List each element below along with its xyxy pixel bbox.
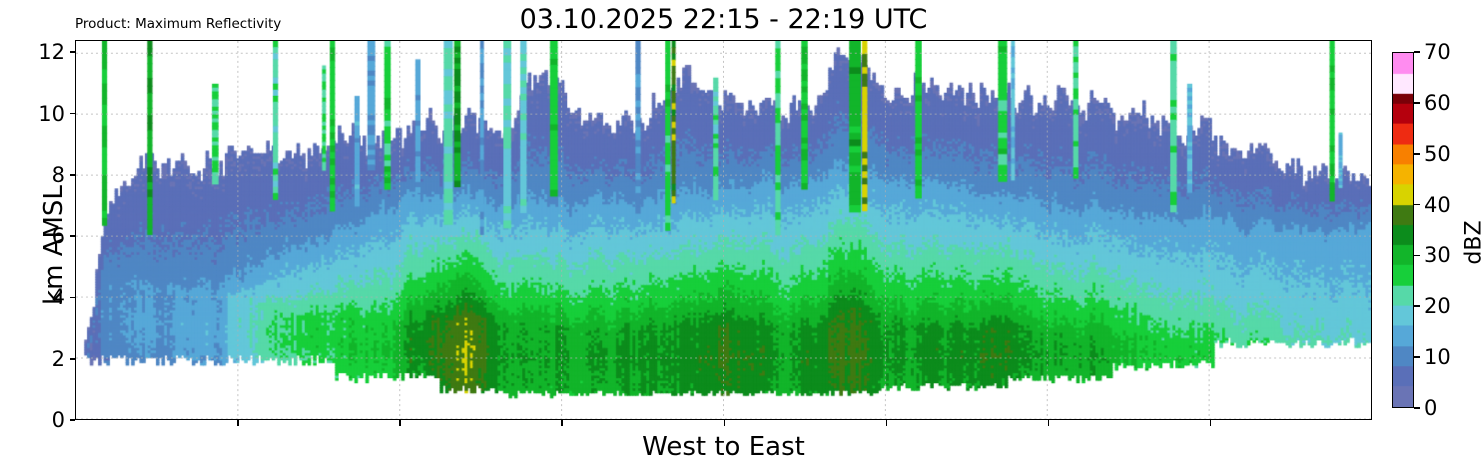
y-tick-label: 8 [52,163,65,187]
x-tick-mark [399,420,401,426]
x-tick-mark [561,420,563,426]
x-tick-mark [1048,420,1050,426]
x-tick-mark [1210,420,1212,426]
colorbar-tick-label: 30 [1424,243,1451,267]
colorbar-tick-mark [1414,356,1420,358]
colorbar-tick-mark [1414,305,1420,307]
y-tick-label: 10 [38,102,65,126]
y-tick-label: 4 [52,285,65,309]
x-axis-label: West to East [75,432,1372,462]
colorbar-label: dBZ [1462,153,1482,333]
colorbar-tick-label: 10 [1424,345,1451,369]
colorbar-tick-mark [1414,102,1420,104]
x-tick-mark [724,420,726,426]
colorbar-tick-mark [1414,204,1420,206]
colorbar-tick-mark [1414,153,1420,155]
colorbar-tick-label: 60 [1424,91,1451,115]
y-tick-label: 0 [52,408,65,432]
plot-area[interactable] [75,40,1372,420]
reflectivity-heatmap [76,41,1371,419]
colorbar-gradient [1393,53,1413,407]
colorbar-tick-mark [1414,51,1420,53]
x-tick-mark [886,420,888,426]
colorbar-tick-label: 70 [1424,40,1451,64]
y-tick-label: 12 [38,40,65,64]
colorbar-tick-mark [1414,255,1420,257]
y-axis-ticks: 024681012 [0,0,75,470]
colorbar-tick-label: 0 [1424,396,1437,420]
colorbar-tick-label: 20 [1424,294,1451,318]
colorbar-tick-label: 50 [1424,142,1451,166]
product-label: Product: Maximum Reflectivity [75,16,281,32]
y-tick-label: 6 [52,224,65,248]
radar-cross-section-figure: 03.10.2025 22:15 - 22:19 UTC Product: Ma… [0,0,1482,470]
colorbar-tick-label: 40 [1424,193,1451,217]
colorbar-tick-mark [1414,407,1420,409]
x-tick-mark [237,420,239,426]
colorbar [1392,52,1414,408]
y-tick-label: 2 [52,347,65,371]
